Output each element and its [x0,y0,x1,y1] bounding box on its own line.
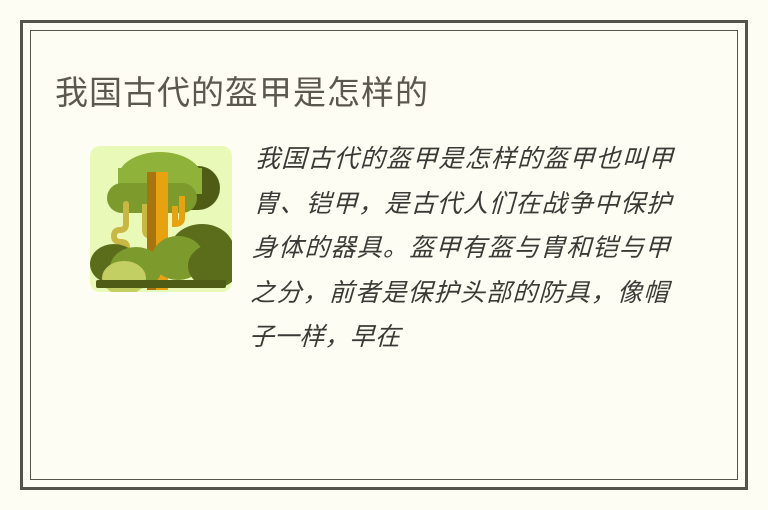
page-root: 我国古代的盔甲是怎样的 [0,0,768,510]
article-content: 我国古代的盔甲是怎样的 [31,31,737,479]
page-title: 我国古代的盔甲是怎样的 [55,66,429,114]
tree-illustration-icon [90,146,232,292]
article-paragraph: 我国古代的盔甲是怎样的盔甲也叫甲胄、铠甲，是古代人们在战争中保护身体的器具。盔甲… [248,137,674,360]
